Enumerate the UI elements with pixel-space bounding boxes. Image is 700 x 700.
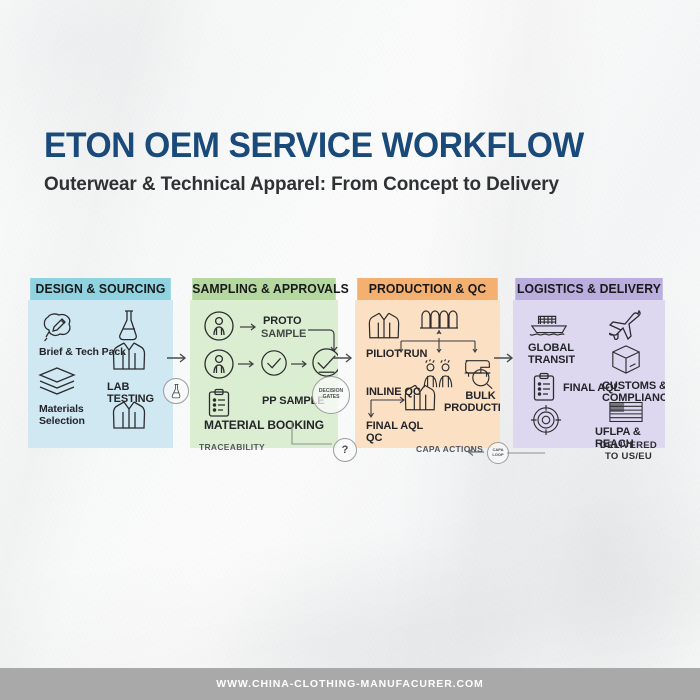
decision-gates-label: DECISION GATES <box>319 389 343 401</box>
capa-loop-label: CAPA LOOP <box>492 448 503 457</box>
arrow-person-to-check <box>238 359 258 369</box>
check-circle-icon <box>259 348 289 378</box>
us-flag-icon <box>608 400 644 424</box>
flask-gate-badge[interactable] <box>163 378 189 404</box>
capa-loop-badge[interactable]: CAPA LOOP <box>487 442 509 464</box>
arrow-design-to-sampling <box>167 351 189 363</box>
decision-gates-badge[interactable]: DECISION GATES <box>312 376 350 414</box>
footer-bar: WWW.CHINA-CLOTHING-MANUFACURER.COM <box>0 668 700 700</box>
traceability-loop-line <box>291 420 337 452</box>
clipboard-icon <box>532 372 556 402</box>
person-badge-icon <box>203 348 235 380</box>
panel-design-sourcing[interactable]: DESIGN & SOURCING Brief & Tech Pack <box>28 278 173 448</box>
cargo-ship-icon <box>529 310 569 338</box>
idea-bubble-icon <box>40 310 78 344</box>
garment-rack-icon <box>418 308 460 330</box>
jacket-icon <box>111 399 147 431</box>
flask-icon <box>170 383 183 399</box>
panel-header-design-sourcing: DESIGN & SOURCING <box>30 278 171 300</box>
clipboard-icon <box>207 388 231 418</box>
question-gate-label: ? <box>342 444 349 457</box>
panel-header-logistics-delivery: LOGISTICS & DELIVERY <box>515 278 662 300</box>
footer-website-text: WWW.CHINA-CLOTHING-MANUFACURER.COM <box>216 678 483 690</box>
title-block: ETON OEM SERVICE WORKFLOW Outerwear & Te… <box>44 128 664 196</box>
layers-icon <box>37 366 77 396</box>
target-icon <box>530 404 562 436</box>
label-proto: PROTO <box>263 315 301 327</box>
label-bulk-production: BULK PRODUCTION <box>444 390 500 415</box>
flow-note-traceability: TRACEABILITY <box>199 442 265 452</box>
arrow-capa-loop <box>466 447 484 457</box>
label-global-transit: GLOBAL TRANSIT <box>528 342 575 367</box>
question-gate-badge[interactable]: ? <box>333 438 357 462</box>
parcel-box-icon <box>610 344 642 376</box>
airplane-icon <box>609 308 643 340</box>
workflow-infographic: ETON OEM SERVICE WORKFLOW Outerwear & Te… <box>0 0 700 700</box>
page-title: ETON OEM SERVICE WORKFLOW <box>44 128 639 164</box>
panel-body-design-sourcing: Brief & Tech Pack LAB TES <box>28 300 173 448</box>
arrow-to-proto <box>240 322 260 332</box>
panel-header-production-qc: PRODUCTION & QC <box>357 278 498 300</box>
panel-body-logistics-delivery: GLOBAL TRANSIT <box>513 300 665 448</box>
arrow-check-to-stamp <box>291 359 311 369</box>
flow-note-delivered: DELIVERED TO US/EU <box>600 440 657 462</box>
label-proto-sample: SAMPLE <box>261 328 306 340</box>
arrow-sampling-to-production <box>333 351 355 363</box>
panel-header-sampling-approvals: SAMPLING & APPROVALS <box>192 278 336 300</box>
panel-logistics-delivery[interactable]: LOGISTICS & DELIVERY GLOBAL TRANSIT <box>513 278 665 448</box>
capa-loop-line <box>507 451 547 455</box>
panel-body-production-qc: PILIOT RUN <box>355 300 500 448</box>
label-materials-selection: Materials Selection <box>39 404 85 428</box>
label-final-aql-qc: FINAL AQL QC <box>366 420 423 445</box>
sewing-machine-inspect-icon <box>460 356 496 390</box>
page-subtitle: Outerwear & Technical Apparel: From Conc… <box>44 173 645 196</box>
flask-icon <box>116 308 142 342</box>
panel-production-qc[interactable]: PRODUCTION & QC <box>355 278 500 448</box>
label-pilot-run: PILIOT RUN <box>366 348 427 360</box>
jacket-icon <box>111 340 147 372</box>
person-badge-icon <box>203 310 235 342</box>
